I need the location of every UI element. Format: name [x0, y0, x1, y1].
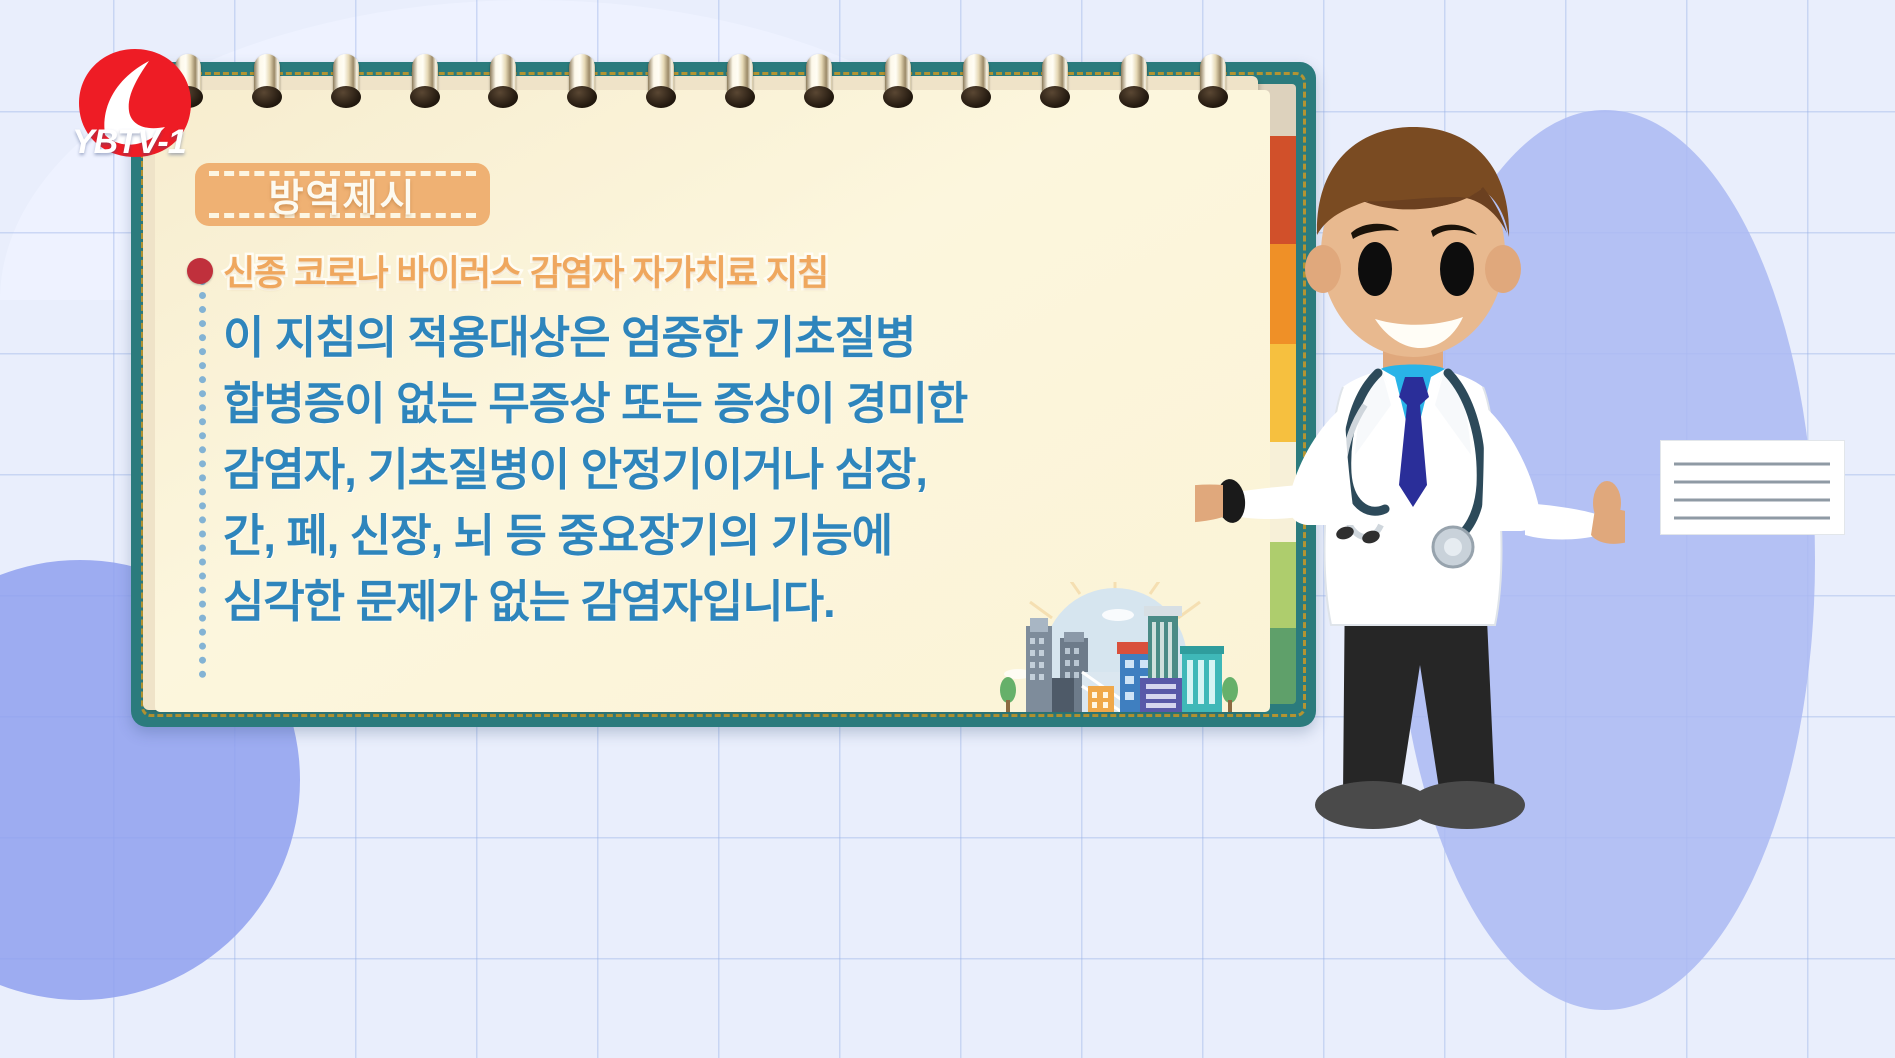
body-line: 합병증이 없는 무증상 또는 증상이 경미한 — [223, 371, 1223, 437]
spiral-ring — [1038, 54, 1072, 112]
bullet-dot-icon — [187, 258, 213, 284]
spiral-ring — [565, 54, 599, 112]
spiral-ring — [1196, 54, 1230, 112]
body-line: 이 지침의 적용대상은 엄중한 기초질병 — [223, 305, 1223, 371]
title-badge-label: 방역제시 — [269, 167, 417, 222]
spiral-binding — [143, 54, 1258, 114]
spiral-ring — [486, 54, 520, 112]
spiral-ring — [250, 54, 284, 112]
spiral-ring — [1117, 54, 1151, 112]
headline-row: 신종 코로나 바이러스 감염자 자가치료 지침 — [187, 245, 828, 296]
spiral-ring — [329, 54, 363, 112]
notebook-page: 방역제시 신종 코로나 바이러스 감염자 자가치료 지침 이 지침의 적용대상은… — [155, 90, 1270, 712]
dotted-guide-line — [199, 278, 206, 678]
headline-text: 신종 코로나 바이러스 감염자 자가치료 지침 — [223, 245, 828, 296]
body-line: 간, 페, 신장, 뇌 등 중요장기의 기능에 — [223, 503, 1223, 569]
spiral-ring — [959, 54, 993, 112]
notebook-panel: 방역제시 신종 코로나 바이러스 감염자 자가치료 지침 이 지침의 적용대상은… — [131, 62, 1316, 727]
spiral-ring — [644, 54, 678, 112]
spiral-ring — [408, 54, 442, 112]
spiral-ring — [802, 54, 836, 112]
doctor-character — [1195, 105, 1625, 895]
notebook-page-stack: 방역제시 신종 코로나 바이러스 감염자 자가치료 지침 이 지침의 적용대상은… — [143, 76, 1258, 710]
spiral-ring — [881, 54, 915, 112]
paper-card-icon — [1660, 440, 1845, 535]
title-badge: 방역제시 — [195, 163, 490, 226]
channel-label: YBTV-1 — [72, 123, 186, 162]
spiral-ring — [723, 54, 757, 112]
body-line: 감염자, 기초질병이 안정기이거나 심장, — [223, 437, 1223, 503]
